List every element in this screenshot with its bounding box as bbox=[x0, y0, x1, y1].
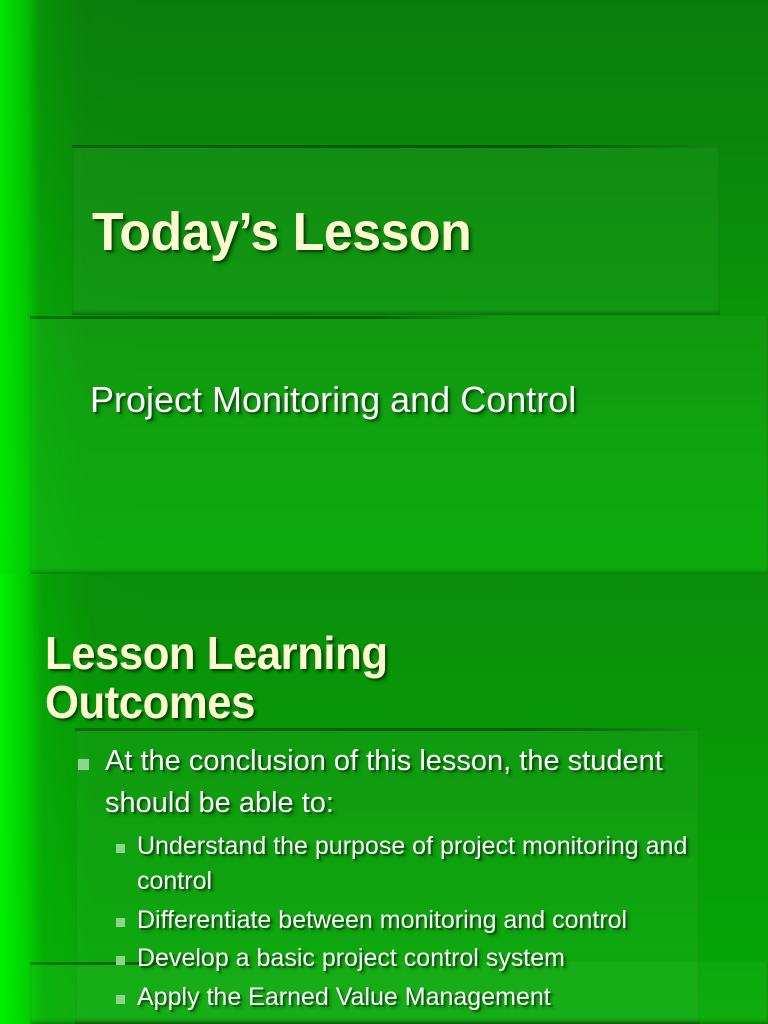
bullet-text-level-2: Differentiate between monitoring and con… bbox=[137, 903, 627, 939]
list-item: Apply the Earned Value Management bbox=[116, 980, 738, 1016]
list-item: At the conclusion of this lesson, the st… bbox=[78, 741, 738, 825]
square-bullet-icon bbox=[116, 844, 125, 853]
bullet-text-level-2: Apply the Earned Value Management bbox=[137, 980, 551, 1016]
slide-1-subtitle: Project Monitoring and Control bbox=[90, 375, 610, 425]
learning-outcomes-list: At the conclusion of this lesson, the st… bbox=[78, 741, 738, 1018]
list-item: Develop a basic project control system bbox=[116, 941, 738, 977]
slide-2-title: Lesson Learning Outcomes bbox=[45, 629, 520, 728]
learning-outcomes-sublist: Understand the purpose of project monito… bbox=[78, 829, 738, 1016]
list-item: Understand the purpose of project monito… bbox=[116, 829, 738, 900]
presentation-page: Today’s Lesson Project Monitoring and Co… bbox=[0, 0, 768, 1024]
square-bullet-icon bbox=[116, 995, 125, 1004]
list-item: Differentiate between monitoring and con… bbox=[116, 903, 738, 939]
sub-list-container: Understand the purpose of project monito… bbox=[78, 829, 738, 1016]
slide-1-title: Today’s Lesson bbox=[92, 203, 687, 261]
square-bullet-icon bbox=[116, 918, 125, 927]
slide-1-body-placeholder bbox=[30, 316, 768, 574]
slide-1-title-placeholder-edge bbox=[72, 145, 720, 148]
slide-1-body-placeholder-edge bbox=[30, 316, 488, 319]
bullet-text-level-1: At the conclusion of this lesson, the st… bbox=[105, 741, 738, 825]
bullet-text-level-2: Understand the purpose of project monito… bbox=[137, 829, 738, 900]
square-bullet-icon bbox=[116, 956, 125, 965]
bullet-text-level-2: Develop a basic project control system bbox=[137, 941, 565, 977]
square-bullet-icon bbox=[78, 759, 89, 770]
slide-1: Today’s Lesson Project Monitoring and Co… bbox=[0, 0, 768, 574]
